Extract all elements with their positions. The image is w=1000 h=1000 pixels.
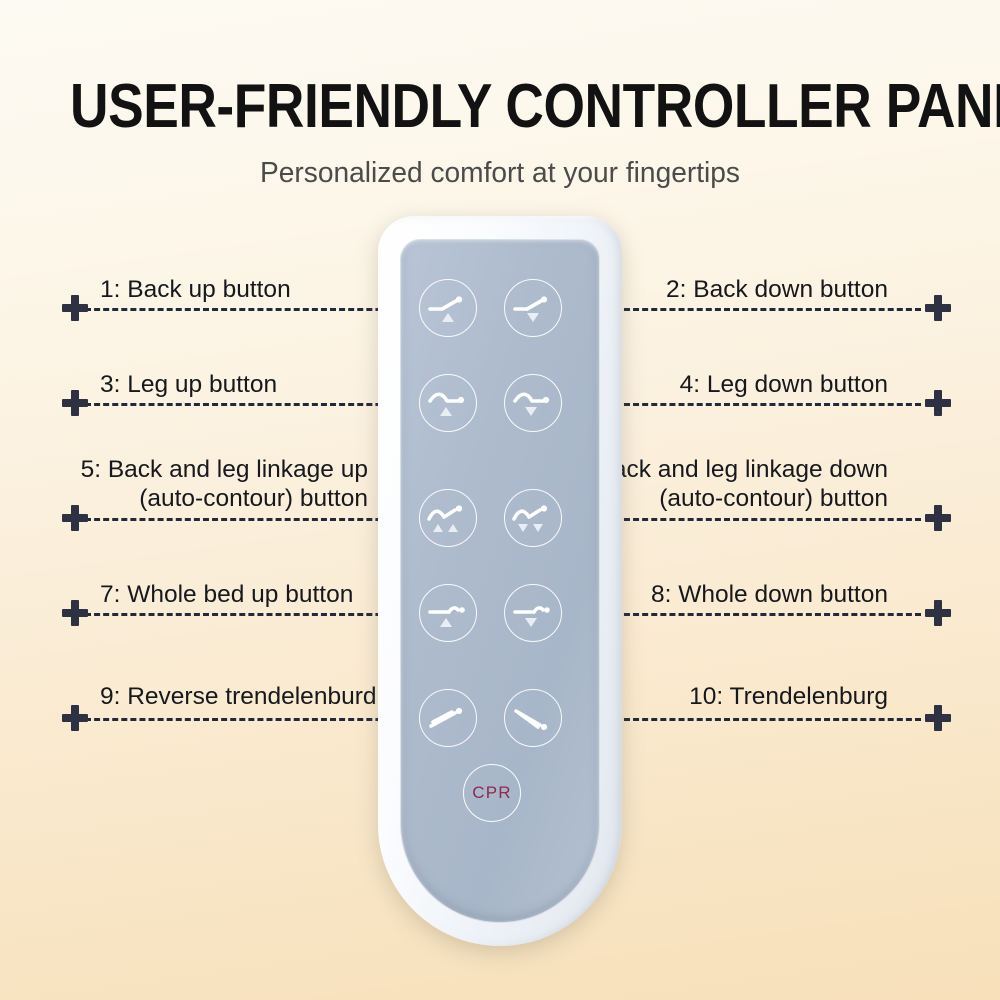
trendelenburg-button[interactable] bbox=[504, 689, 562, 747]
whole-bed-down-button[interactable] bbox=[504, 584, 562, 642]
callout-label-3: 3: Leg up button bbox=[100, 370, 277, 399]
callout-marker-4 bbox=[925, 390, 951, 416]
callout-marker-10 bbox=[925, 705, 951, 731]
cpr-button[interactable]: CPR bbox=[463, 764, 521, 822]
callout-label-10: 10: Trendelenburg bbox=[689, 682, 888, 711]
back-down-button[interactable] bbox=[504, 279, 562, 337]
controller-panel-remote bbox=[378, 216, 622, 946]
bed-leg-raised-up-icon bbox=[425, 380, 471, 426]
callout-marker-2 bbox=[925, 295, 951, 321]
reverse-trendelenburg-button[interactable] bbox=[419, 689, 477, 747]
callout-label-9: 9: Reverse trendelenburd bbox=[100, 682, 376, 711]
bed-leg-raised-down-icon bbox=[510, 380, 556, 426]
callout-marker-9 bbox=[62, 705, 88, 731]
bed-flat-down-icon bbox=[510, 590, 556, 636]
auto-contour-down-button[interactable] bbox=[504, 489, 562, 547]
callout-marker-1 bbox=[62, 295, 88, 321]
callout-label-2: 2: Back down button bbox=[666, 275, 888, 304]
callout-label-7: 7: Whole bed up button bbox=[100, 580, 353, 609]
callout-marker-7 bbox=[62, 600, 88, 626]
callout-marker-8 bbox=[925, 600, 951, 626]
bed-contour-down-icon bbox=[510, 495, 556, 541]
leg-up-button[interactable] bbox=[419, 374, 477, 432]
bed-tilt-head-up-icon bbox=[425, 695, 471, 741]
bed-tilt-head-down-icon bbox=[510, 695, 556, 741]
bed-flat-up-icon bbox=[425, 590, 471, 636]
bed-back-raised-up-icon bbox=[425, 285, 471, 331]
bed-back-raised-down-icon bbox=[510, 285, 556, 331]
auto-contour-up-button[interactable] bbox=[419, 489, 477, 547]
header: USER-FRIENDLY CONTROLLER PANEL Personali… bbox=[0, 0, 1000, 190]
callout-label-1: 1: Back up button bbox=[100, 275, 291, 304]
callout-marker-3 bbox=[62, 390, 88, 416]
page-subtitle: Personalized comfort at your fingertips bbox=[15, 156, 985, 190]
bed-contour-up-icon bbox=[425, 495, 471, 541]
cpr-label: CPR bbox=[472, 783, 512, 803]
page-title: USER-FRIENDLY CONTROLLER PANEL bbox=[70, 76, 930, 138]
callout-label-8: 8: Whole down button bbox=[651, 580, 888, 609]
callout-label-4: 4: Leg down button bbox=[680, 370, 888, 399]
back-up-button[interactable] bbox=[419, 279, 477, 337]
leg-down-button[interactable] bbox=[504, 374, 562, 432]
whole-bed-up-button[interactable] bbox=[419, 584, 477, 642]
